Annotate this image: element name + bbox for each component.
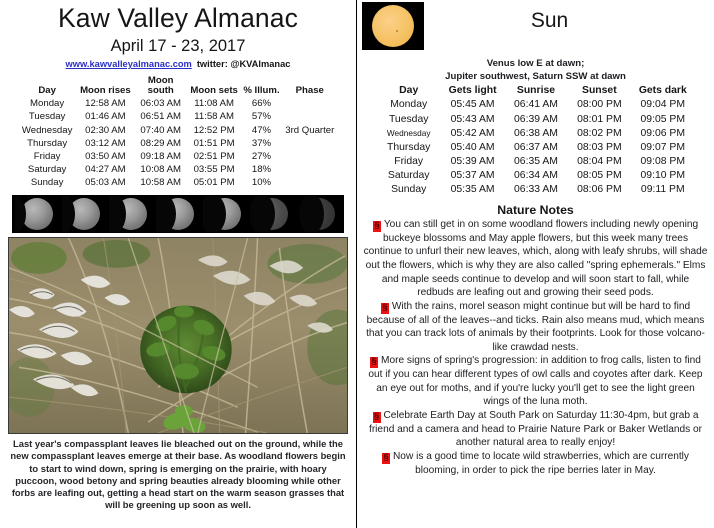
moon-cell-sets: 05:01 PM <box>187 176 242 189</box>
sun-title: Sun <box>385 0 714 31</box>
moon-phase-icon <box>156 196 200 232</box>
sun-cell-sunset: 08:05 PM <box>568 169 631 183</box>
sun-header-gets-dark: Gets dark <box>631 85 694 98</box>
moon-header-south-line2: south <box>148 85 174 96</box>
moon-cell-day: Thursday <box>18 137 76 150</box>
sun-table-body: Monday 05:45 AM 06:41 AM 08:00 PM 09:04 … <box>377 99 695 197</box>
moon-cell-phase <box>282 150 338 163</box>
moon-cell-rises: 03:50 AM <box>76 150 134 163</box>
moon-cell-day: Monday <box>18 97 76 110</box>
photo-caption: Last year's compassplant leaves lie blea… <box>10 438 346 511</box>
sun-cell-sunset: 08:06 PM <box>568 183 631 197</box>
table-row: Thursday 03:12 AM 08:29 AM 01:51 PM 37% <box>18 137 338 150</box>
list-item: §Celebrate Earth Day at South Park on Sa… <box>364 409 708 450</box>
planet-note-line1: Venus low E at dawn; <box>357 58 714 71</box>
moon-cell-phase <box>282 111 338 124</box>
section-marker-icon: § <box>370 357 378 368</box>
moon-header-sets: Moon sets <box>187 76 242 97</box>
list-item: §You can still get in on some woodland f… <box>364 218 708 300</box>
sun-cell-day: Thursday <box>377 141 441 155</box>
moon-cell-south: 07:40 AM <box>135 124 187 137</box>
moon-phase-icon <box>109 196 153 232</box>
table-row: Wednesday 05:42 AM 06:38 AM 08:02 PM 09:… <box>377 127 695 141</box>
table-row: Saturday 04:27 AM 10:08 AM 03:55 PM 18% <box>18 163 338 176</box>
moon-cell-rises: 01:46 AM <box>76 111 134 124</box>
moon-cell-sets: 03:55 PM <box>187 163 242 176</box>
nature-note-text: You can still get in on some woodland fl… <box>364 219 708 298</box>
sun-cell-day: Wednesday <box>377 127 441 141</box>
moon-cell-illum: 10% <box>241 176 281 189</box>
table-row: Monday 12:58 AM 06:03 AM 11:08 AM 66% <box>18 97 338 110</box>
moon-cell-day: Friday <box>18 150 76 163</box>
moon-cell-sets: 01:51 PM <box>187 137 242 150</box>
sun-cell-gets-light: 05:37 AM <box>441 169 504 183</box>
moon-header-phase: Phase <box>282 76 338 97</box>
moon-table: Day Moon rises Moon south Moon sets % Il… <box>18 76 338 189</box>
moon-cell-day: Saturday <box>18 163 76 176</box>
sun-cell-sunrise: 06:41 AM <box>504 99 567 113</box>
masthead: Kaw Valley Almanac April 17 - 23, 2017 w… <box>0 0 356 69</box>
website-link[interactable]: www.kawvalleyalmanac.com <box>66 59 192 69</box>
sun-header-sunrise: Sunrise <box>504 85 567 98</box>
sun-cell-gets-light: 05:42 AM <box>441 127 504 141</box>
section-marker-icon: § <box>382 453 390 464</box>
moon-cell-phase <box>282 163 338 176</box>
sun-cell-gets-dark: 09:06 PM <box>631 127 694 141</box>
nature-note-text: More signs of spring's progression: in a… <box>368 355 702 407</box>
moon-cell-sets: 11:58 AM <box>187 111 242 124</box>
sun-cell-gets-dark: 09:10 PM <box>631 169 694 183</box>
nature-notes-body: §You can still get in on some woodland f… <box>364 218 708 478</box>
moon-cell-day: Tuesday <box>18 111 76 124</box>
moon-cell-rises: 02:30 AM <box>76 124 134 137</box>
moon-cell-rises: 03:12 AM <box>76 137 134 150</box>
right-column: Sun Venus low E at dawn; Jupiter southwe… <box>357 0 714 528</box>
nature-notes-heading: Nature Notes <box>357 203 714 217</box>
moon-cell-south: 06:03 AM <box>135 97 187 110</box>
sun-cell-gets-dark: 09:11 PM <box>631 183 694 197</box>
moon-phase-strip <box>12 195 344 233</box>
moon-header-rises: Moon rises <box>76 76 134 97</box>
sun-cell-sunrise: 06:35 AM <box>504 155 567 169</box>
moon-cell-south: 10:58 AM <box>135 176 187 189</box>
planet-notes: Venus low E at dawn; Jupiter southwest, … <box>357 58 714 83</box>
sun-cell-gets-light: 05:45 AM <box>441 99 504 113</box>
moon-cell-sets: 12:52 PM <box>187 124 242 137</box>
moon-cell-illum: 47% <box>241 124 281 137</box>
moon-phase-icon <box>297 196 341 232</box>
moon-cell-phase <box>282 137 338 150</box>
sun-cell-sunset: 08:02 PM <box>568 127 631 141</box>
sun-table: Day Gets light Sunrise Sunset Gets dark … <box>377 85 695 197</box>
prairie-photo <box>8 237 348 434</box>
left-column: Kaw Valley Almanac April 17 - 23, 2017 w… <box>0 0 357 528</box>
section-marker-icon: § <box>373 221 381 232</box>
moon-cell-sets: 02:51 PM <box>187 150 242 163</box>
almanac-page: Kaw Valley Almanac April 17 - 23, 2017 w… <box>0 0 714 528</box>
moon-cell-south: 10:08 AM <box>135 163 187 176</box>
nature-note-text: Celebrate Earth Day at South Park on Sat… <box>369 410 702 449</box>
moon-phase-icon <box>250 196 294 232</box>
sun-cell-sunrise: 06:38 AM <box>504 127 567 141</box>
sun-cell-gets-light: 05:35 AM <box>441 183 504 197</box>
moon-cell-rises: 12:58 AM <box>76 97 134 110</box>
table-row: Friday 03:50 AM 09:18 AM 02:51 PM 27% <box>18 150 338 163</box>
list-item: §More signs of spring's progression: in … <box>364 354 708 409</box>
sun-cell-gets-light: 05:43 AM <box>441 113 504 127</box>
moon-cell-phase <box>282 97 338 110</box>
sun-cell-gets-dark: 09:07 PM <box>631 141 694 155</box>
moon-header-south: Moon south <box>135 76 187 97</box>
page-title: Kaw Valley Almanac <box>0 5 356 33</box>
prairie-photo-image <box>9 238 347 433</box>
twitter-handle: twitter: @KVAlmanac <box>197 59 291 69</box>
sun-cell-day: Sunday <box>377 183 441 197</box>
table-row: Sunday 05:35 AM 06:33 AM 08:06 PM 09:11 … <box>377 183 695 197</box>
moon-phase-icon <box>62 196 106 232</box>
sun-header: Sun <box>357 0 714 56</box>
table-row: Wednesday 02:30 AM 07:40 AM 12:52 PM 47%… <box>18 124 338 137</box>
table-row: Tuesday 05:43 AM 06:39 AM 08:01 PM 09:05… <box>377 113 695 127</box>
sun-header-gets-light: Gets light <box>441 85 504 98</box>
moon-cell-rises: 04:27 AM <box>76 163 134 176</box>
sun-cell-day: Saturday <box>377 169 441 183</box>
moon-cell-south: 06:51 AM <box>135 111 187 124</box>
section-marker-icon: § <box>381 303 389 314</box>
table-row: Saturday 05:37 AM 06:34 AM 08:05 PM 09:1… <box>377 169 695 183</box>
moon-phase-icon <box>15 196 59 232</box>
masthead-links: www.kawvalleyalmanac.comtwitter: @KVAlma… <box>0 59 356 69</box>
sun-cell-gets-light: 05:39 AM <box>441 155 504 169</box>
sun-cell-gets-dark: 09:05 PM <box>631 113 694 127</box>
sun-table-header-row: Day Gets light Sunrise Sunset Gets dark <box>377 85 695 98</box>
moon-cell-phase <box>282 176 338 189</box>
moon-cell-sets: 11:08 AM <box>187 97 242 110</box>
sun-cell-sunset: 08:00 PM <box>568 99 631 113</box>
moon-table-body: Monday 12:58 AM 06:03 AM 11:08 AM 66% Tu… <box>18 97 338 189</box>
moon-cell-south: 09:18 AM <box>135 150 187 163</box>
sun-icon <box>362 2 424 50</box>
moon-cell-illum: 27% <box>241 150 281 163</box>
sun-cell-sunrise: 06:37 AM <box>504 141 567 155</box>
moon-cell-illum: 37% <box>241 137 281 150</box>
table-row: Friday 05:39 AM 06:35 AM 08:04 PM 09:08 … <box>377 155 695 169</box>
sun-header-sunset: Sunset <box>568 85 631 98</box>
moon-cell-illum: 18% <box>241 163 281 176</box>
sun-cell-gets-dark: 09:08 PM <box>631 155 694 169</box>
table-row: Tuesday 01:46 AM 06:51 AM 11:58 AM 57% <box>18 111 338 124</box>
date-range: April 17 - 23, 2017 <box>0 37 356 55</box>
list-item: §With the rains, morel season might cont… <box>364 300 708 355</box>
moon-cell-illum: 66% <box>241 97 281 110</box>
sun-cell-sunrise: 06:34 AM <box>504 169 567 183</box>
planet-note-line2: Jupiter southwest, Saturn SSW at dawn <box>357 71 714 84</box>
sun-cell-sunrise: 06:33 AM <box>504 183 567 197</box>
moon-cell-phase: 3rd Quarter <box>282 124 338 137</box>
sun-cell-sunset: 08:01 PM <box>568 113 631 127</box>
moon-cell-illum: 57% <box>241 111 281 124</box>
moon-cell-day: Sunday <box>18 176 76 189</box>
sun-cell-day: Friday <box>377 155 441 169</box>
sun-cell-day: Monday <box>377 99 441 113</box>
sun-cell-day: Tuesday <box>377 113 441 127</box>
moon-cell-day: Wednesday <box>18 124 76 137</box>
moon-phase-icon <box>203 196 247 232</box>
moon-cell-rises: 05:03 AM <box>76 176 134 189</box>
moon-header-day: Day <box>18 76 76 97</box>
table-row: Monday 05:45 AM 06:41 AM 08:00 PM 09:04 … <box>377 99 695 113</box>
sun-cell-gets-dark: 09:04 PM <box>631 99 694 113</box>
sun-cell-gets-light: 05:40 AM <box>441 141 504 155</box>
moon-cell-south: 08:29 AM <box>135 137 187 150</box>
section-marker-icon: § <box>373 412 381 423</box>
nature-note-text: With the rains, morel season might conti… <box>366 301 705 353</box>
table-row: Thursday 05:40 AM 06:37 AM 08:03 PM 09:0… <box>377 141 695 155</box>
list-item: §Now is a good time to locate wild straw… <box>364 450 708 478</box>
sun-cell-sunset: 08:04 PM <box>568 155 631 169</box>
moon-header-illum: % Illum. <box>241 76 281 97</box>
sun-header-day: Day <box>377 85 441 98</box>
table-row: Sunday 05:03 AM 10:58 AM 05:01 PM 10% <box>18 176 338 189</box>
sun-cell-sunrise: 06:39 AM <box>504 113 567 127</box>
sun-cell-sunset: 08:03 PM <box>568 141 631 155</box>
nature-note-text: Now is a good time to locate wild strawb… <box>393 451 689 476</box>
moon-table-header-row: Day Moon rises Moon south Moon sets % Il… <box>18 76 338 97</box>
